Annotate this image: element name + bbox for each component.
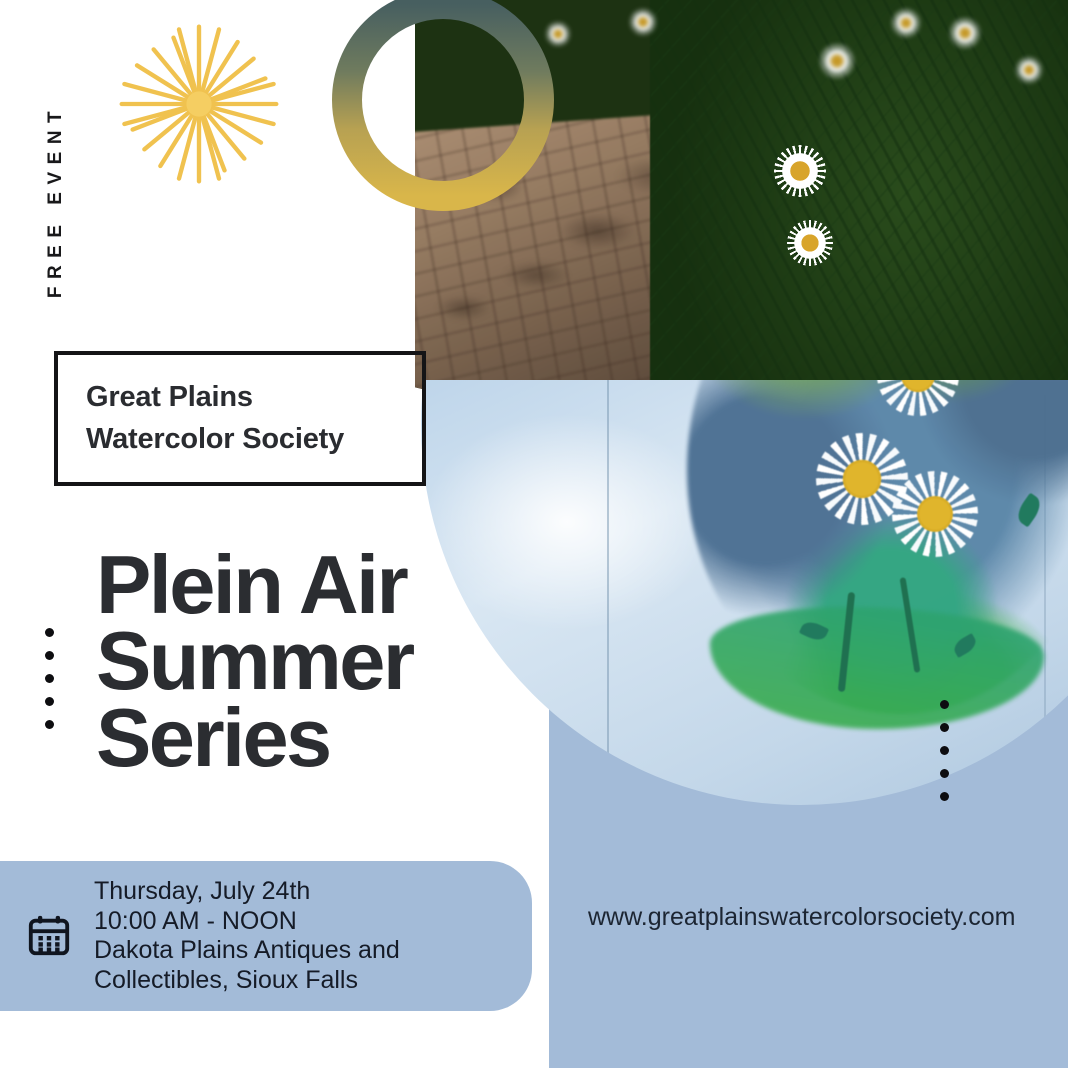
dot-icon <box>940 769 949 778</box>
dot-column-right <box>940 700 949 801</box>
photo-foliage-layer <box>650 0 1068 440</box>
headline-line-1: Plein Air <box>96 547 526 623</box>
event-time: 10:00 AM - NOON <box>94 907 400 937</box>
dot-icon <box>940 792 949 801</box>
dot-icon <box>45 697 54 706</box>
headline-line-3: Series <box>96 700 526 776</box>
website-url[interactable]: www.greatplainswatercolorsociety.com <box>588 903 1015 932</box>
dot-icon <box>45 651 54 660</box>
sunburst-icon <box>115 20 283 188</box>
event-venue-line-2: Collectibles, Sioux Falls <box>94 966 400 996</box>
calendar-icon <box>26 913 72 959</box>
dot-column-left <box>45 628 54 729</box>
dot-icon <box>45 628 54 637</box>
event-details-text: Thursday, July 24th 10:00 AM - NOON Dako… <box>94 877 400 995</box>
dot-icon <box>940 723 949 732</box>
headline-line-2: Summer <box>96 623 526 699</box>
dot-icon <box>940 746 949 755</box>
dot-icon <box>940 700 949 709</box>
event-date: Thursday, July 24th <box>94 877 400 907</box>
painting-fold-line <box>607 357 609 798</box>
free-event-label: FREE EVENT <box>41 85 71 317</box>
photo-daisy-icon <box>892 9 920 37</box>
photo-daisy-icon <box>950 18 980 48</box>
dot-icon <box>45 720 54 729</box>
gradient-ring-graphic <box>318 0 568 225</box>
organization-logo-box: Great Plains Watercolor Society <box>54 351 426 486</box>
logo-line-2: Watercolor Society <box>86 419 422 460</box>
event-details-card: Thursday, July 24th 10:00 AM - NOON Dako… <box>0 861 532 1011</box>
event-venue-line-1: Dakota Plains Antiques and <box>94 936 400 966</box>
photo-daisy-icon <box>820 44 854 78</box>
dot-icon <box>45 674 54 683</box>
free-event-text: FREE EVENT <box>45 104 67 298</box>
photo-daisy-icon <box>1016 57 1042 83</box>
page-title: Plein Air Summer Series <box>96 547 526 776</box>
logo-line-1: Great Plains <box>86 377 422 418</box>
event-poster: FREE EVENT Great Plains Watercolor Socie… <box>0 0 1068 1068</box>
